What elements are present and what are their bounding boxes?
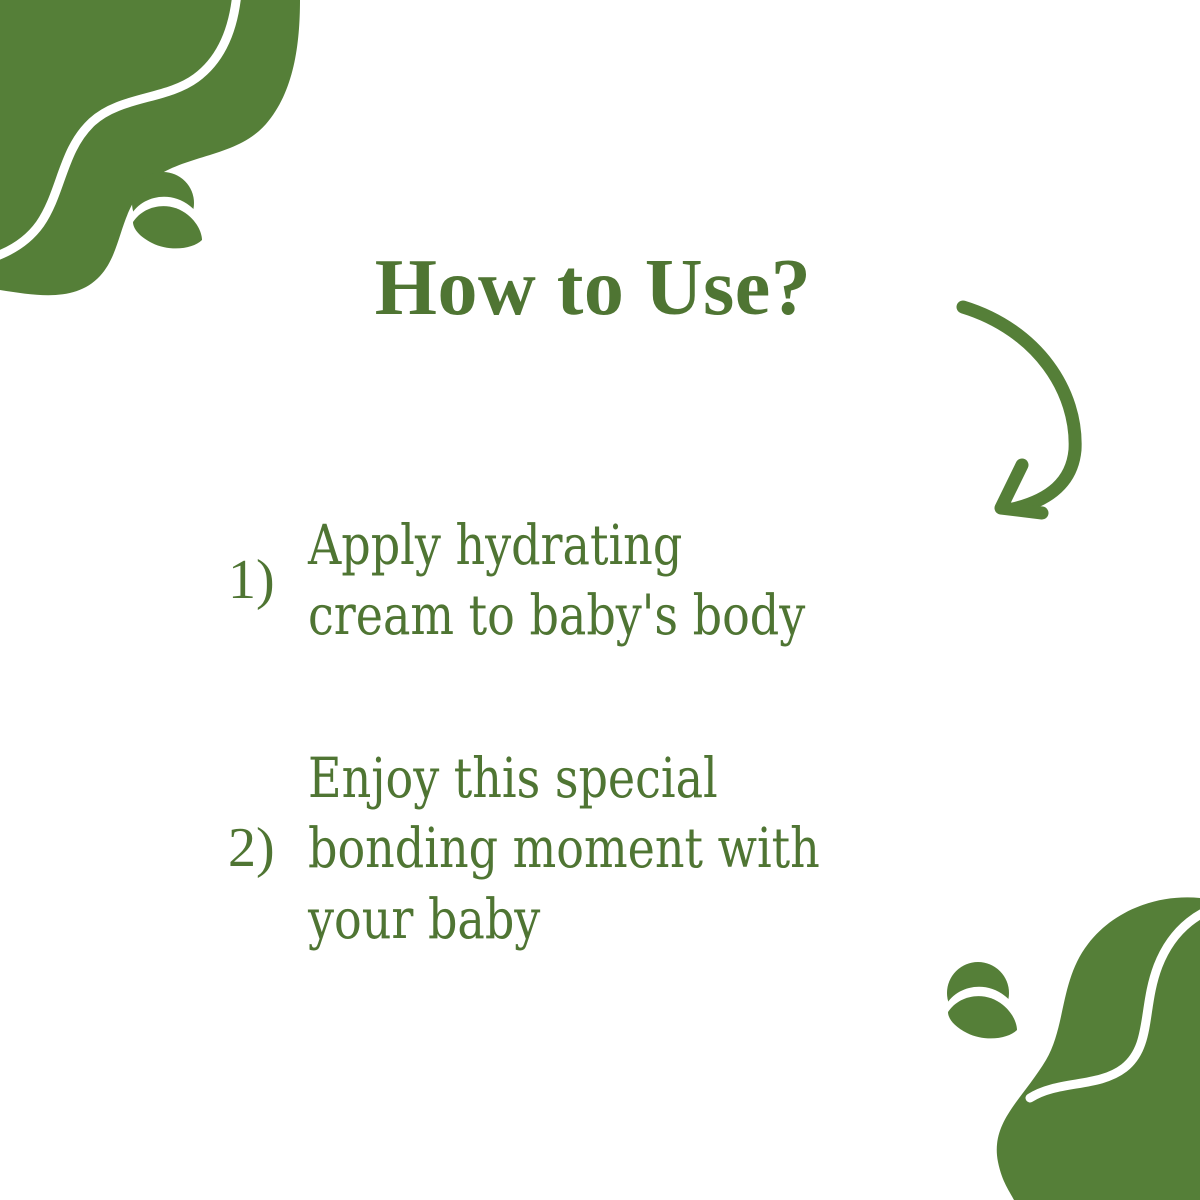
steps-list: 1) Apply hydrating cream to baby's body … [228, 510, 988, 954]
curved-arrow-icon [963, 307, 1075, 513]
step-text: Enjoy this special bonding moment with y… [308, 743, 940, 954]
page-title: How to Use? [0, 248, 1200, 328]
page-title-text: How to Use? [375, 248, 812, 328]
leaf-circle-icon [131, 172, 206, 248]
step-number: 2) [228, 820, 308, 876]
list-item: 2) Enjoy this special bonding moment wit… [228, 743, 988, 954]
bottom-right-blob [997, 897, 1200, 1200]
list-item: 1) Apply hydrating cream to baby's body [228, 510, 988, 651]
leaf-circle-icon [946, 962, 1021, 1038]
poster-canvas: How to Use? 1) Apply hydrating cream to … [0, 0, 1200, 1200]
step-number: 1) [228, 552, 308, 608]
step-text: Apply hydrating cream to baby's body [308, 510, 940, 651]
